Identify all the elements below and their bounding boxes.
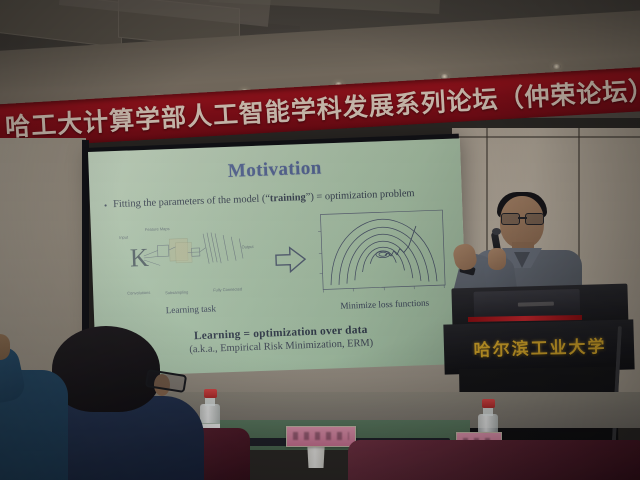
bullet-marker-icon: • xyxy=(104,199,108,211)
bullet-suffix: ”) = optimization problem xyxy=(306,188,415,203)
cnn-architecture-diagram: K Input Feature Maps Convolutions Subsam… xyxy=(107,218,270,304)
svg-text:Feature Maps: Feature Maps xyxy=(145,226,170,232)
audience-member-left xyxy=(0,348,68,480)
presenter-hand-right xyxy=(488,248,506,270)
laptop-logo xyxy=(518,302,554,307)
glasses-icon xyxy=(501,213,544,223)
loss-contour-plot xyxy=(314,207,449,300)
slide-title: Motivation xyxy=(89,152,462,188)
svg-text:Input: Input xyxy=(119,235,129,240)
svg-text:Fully Connected: Fully Connected xyxy=(213,286,242,292)
bottle-cap xyxy=(482,399,495,408)
wall-seam xyxy=(452,136,640,138)
bullet-prefix: Fitting the parameters of the model (“ xyxy=(113,193,270,210)
presentation-photo: 哈工大计算学部人工智能学科发展系列论坛（仲荣论坛） Motivation • F… xyxy=(0,0,640,480)
slide-diagrams: K Input Feature Maps Convolutions Subsam… xyxy=(91,210,467,329)
name-placard xyxy=(286,426,356,447)
chair xyxy=(348,440,640,480)
left-diagram-caption: Learning task xyxy=(116,302,266,317)
podium-university-name: 哈尔滨工业大学 xyxy=(460,332,621,361)
transition-arrow xyxy=(274,244,309,275)
bullet-bold: training xyxy=(270,192,306,204)
downlight-icon xyxy=(552,64,561,69)
svg-text:Output: Output xyxy=(241,244,254,249)
name-placard-text xyxy=(293,432,349,440)
svg-text:Subsampling: Subsampling xyxy=(165,289,188,295)
slide-bullet-text: Fitting the parameters of the model (“tr… xyxy=(113,188,415,211)
bottle-cap xyxy=(204,389,217,398)
right-arrow-icon xyxy=(274,244,309,275)
svg-text:Convolutions: Convolutions xyxy=(127,290,150,296)
microphone-head-icon xyxy=(492,228,501,235)
audience-front-head xyxy=(52,326,160,412)
